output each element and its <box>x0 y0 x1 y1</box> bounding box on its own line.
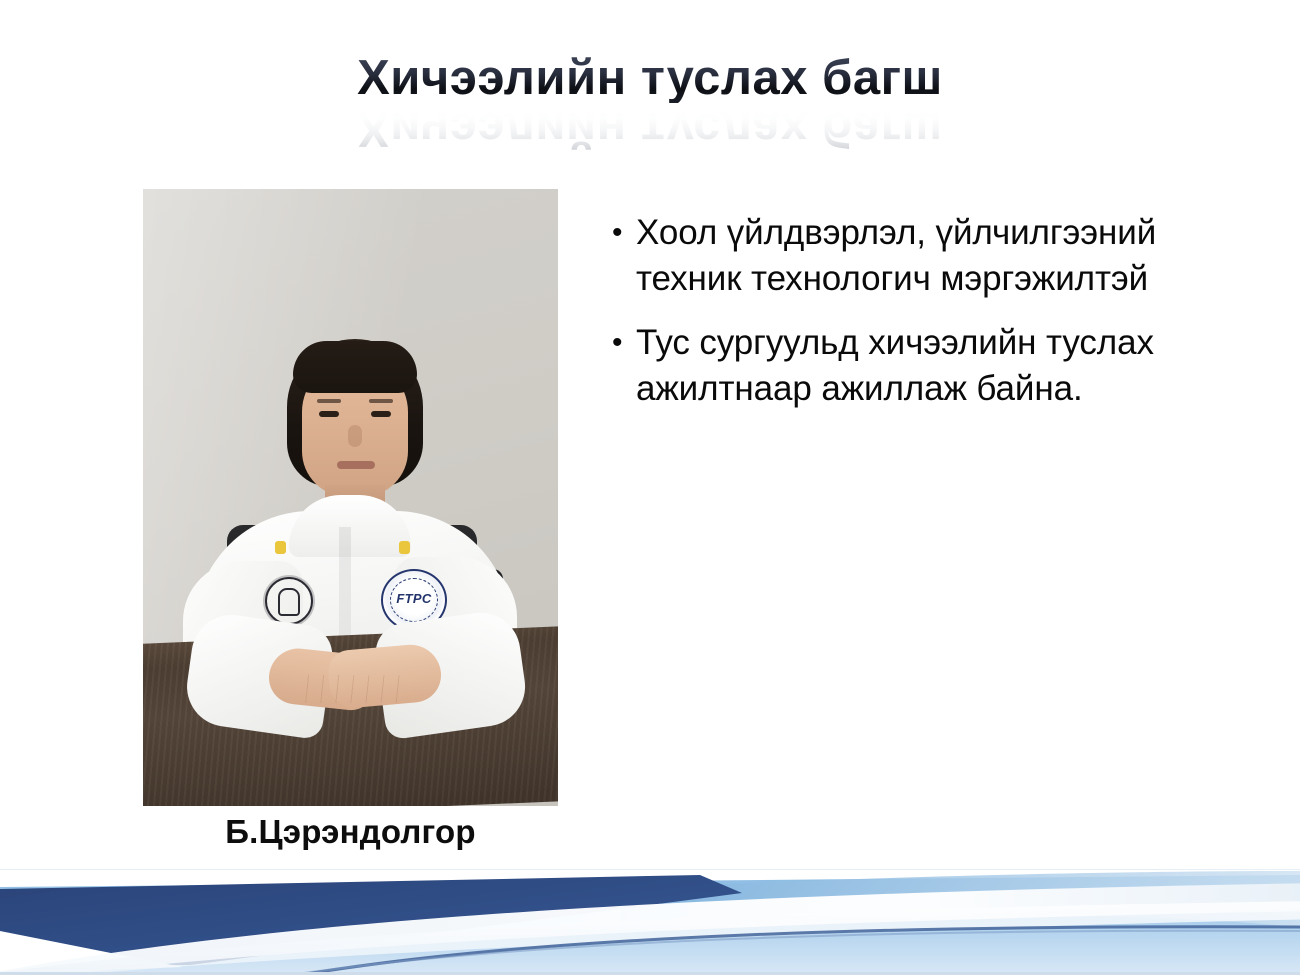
portrait-photo: FTPC Б.Цэрэндолгор <box>143 189 558 806</box>
subject-hair-fringe <box>293 341 417 393</box>
bullet-text: Тус сургуульд хичээлийн туслах ажилтнаар… <box>636 320 1252 412</box>
bullet-text: Хоол үйлдвэрлэл, үйлчилгээний техник тех… <box>636 210 1252 302</box>
footer-wave-graphic <box>0 869 1300 975</box>
slide-canvas: Хичээлийн туслах багш Хичээлийн туслах б… <box>0 0 1300 975</box>
footer-decoration-band <box>0 869 1300 975</box>
collar-button-left <box>275 541 286 554</box>
subject-eye-right <box>371 411 391 417</box>
bullet-marker-icon: • <box>612 210 636 256</box>
photo-caption-name: Б.Цэрэндолгор <box>143 813 558 851</box>
subject-eyebrow-right <box>369 399 393 403</box>
ftpc-logo-label: FTPC <box>383 591 445 606</box>
subject-fingers <box>293 675 411 703</box>
chef-emblem-icon <box>265 577 313 625</box>
list-item: • Хоол үйлдвэрлэл, үйлчилгээний техник т… <box>612 210 1252 302</box>
bullet-list: • Хоол үйлдвэрлэл, үйлчилгээний техник т… <box>612 210 1252 430</box>
bullet-marker-icon: • <box>612 320 636 366</box>
list-item: • Тус сургуульд хичээлийн туслах ажилтна… <box>612 320 1252 412</box>
subject-eye-left <box>319 411 339 417</box>
subject-eyebrow-left <box>317 399 341 403</box>
subject-nose <box>348 425 362 447</box>
page-title-reflection: Хичээлийн туслах багш <box>0 104 1300 153</box>
page-title: Хичээлийн туслах багш <box>357 54 943 103</box>
slide-title-block: Хичээлийн туслах багш Хичээлийн туслах б… <box>0 54 1300 174</box>
subject-mouth <box>337 461 375 469</box>
collar-button-right <box>399 541 410 554</box>
